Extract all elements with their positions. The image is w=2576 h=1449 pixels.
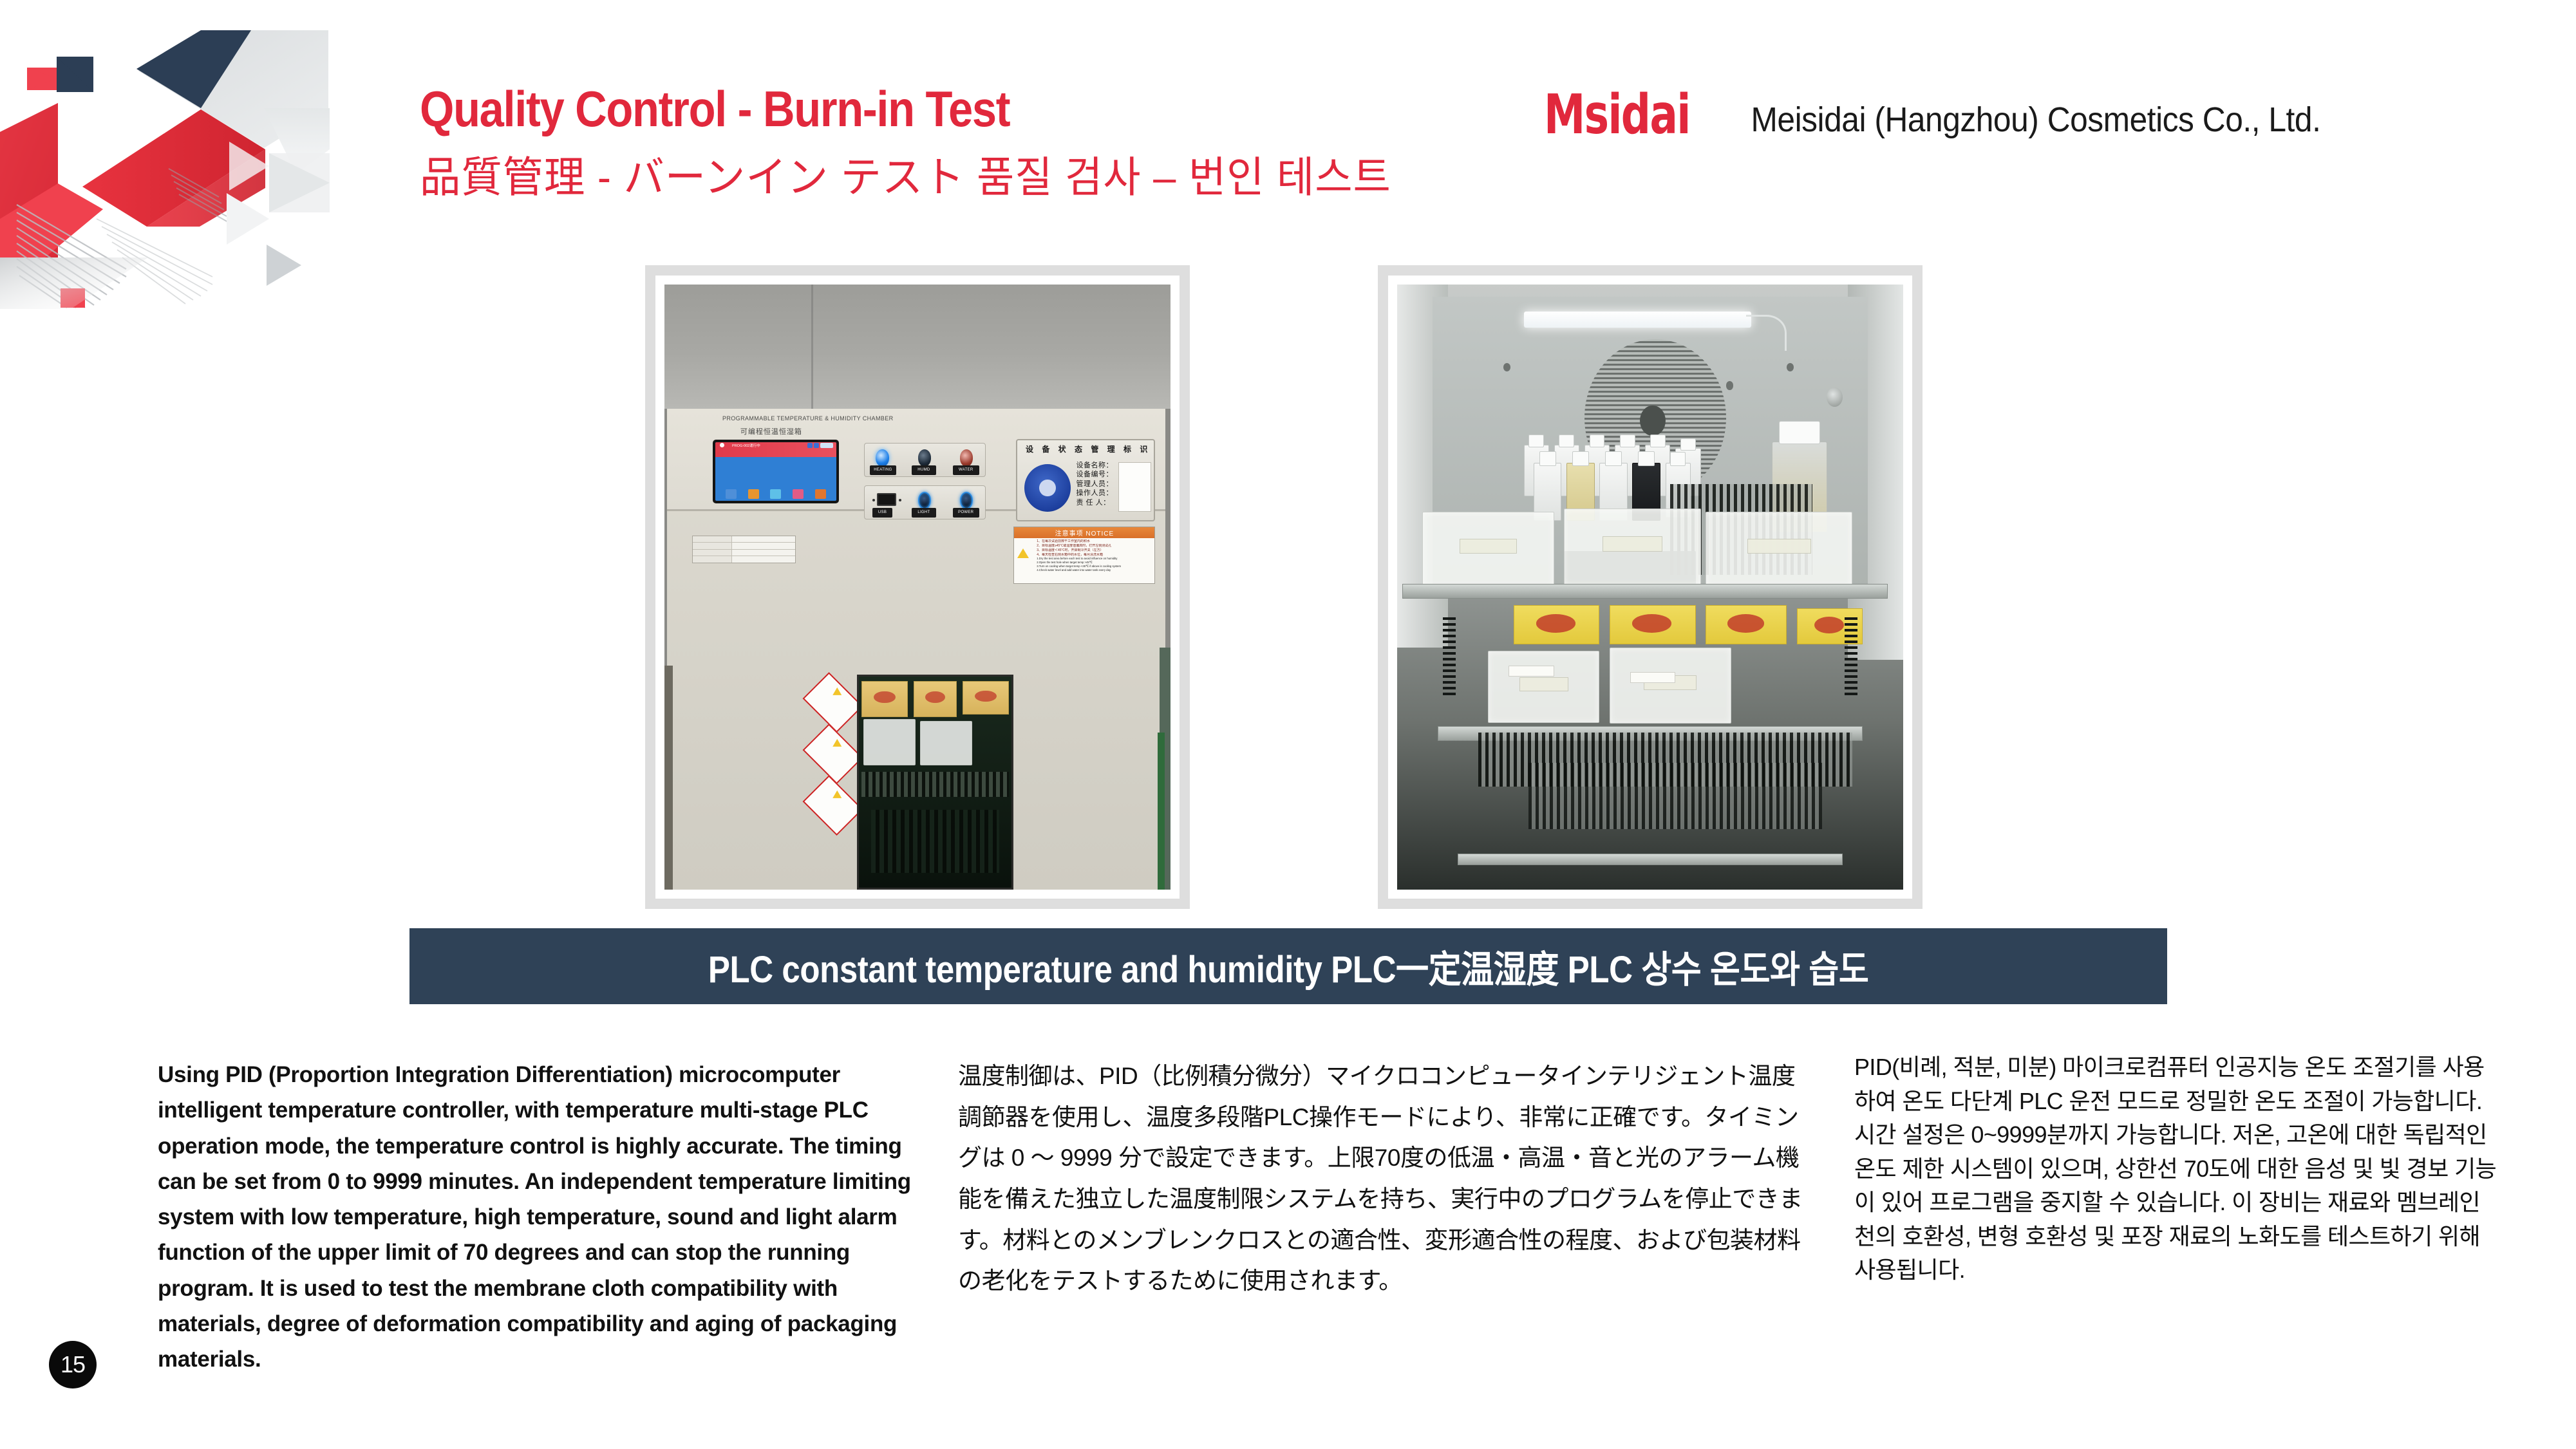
shelf-bracket-right [1845, 617, 1857, 696]
control-button-row[interactable]: USB LIGHT POWER [864, 485, 986, 519]
usb-screw-left [872, 499, 875, 501]
hmi-icon-row[interactable] [715, 489, 837, 499]
notice-body: 1、在每次试验前擦干工作室内的积水 2、目标温度≥45℃或湿度值偏高时，打开左侧… [1014, 538, 1154, 583]
description-korean: PID(비례, 적분, 미분) 마이크로컴퓨터 인공지능 온도 조절기를 사용하… [1854, 1051, 2505, 1287]
page-title: Quality Control - Burn-in Test [420, 84, 1383, 134]
clear-sample-bag-1 [863, 719, 916, 765]
description-english: Using PID (Proportion Integration Differ… [158, 1057, 937, 1378]
sample-pouch-top-1 [1422, 512, 1554, 588]
shelf-upper [1402, 584, 1888, 599]
power-button[interactable] [960, 492, 973, 509]
banner-title: PLC constant temperature and humidity PL… [708, 939, 1868, 993]
light-button[interactable] [918, 492, 932, 509]
blue-seal-sticker [1024, 464, 1071, 512]
chamber-viewing-window [857, 675, 1014, 890]
description-japanese: 温度制御は、PID（比例積分微分）マイクロコンピュータインテリジェント温度調節器… [958, 1056, 1808, 1302]
msidai-logo: Msidai [1544, 87, 1690, 142]
notice-cn-3: 3、目标温度＜45℃时，开启制冷开关（左方） [1037, 548, 1153, 553]
usb-port[interactable] [877, 493, 896, 506]
fan-hub [1640, 406, 1665, 436]
sample-pouch-mid-1 [1488, 651, 1599, 724]
hmi-status-text: PROG-002運行中 [732, 443, 760, 448]
yellow-package-3 [1706, 605, 1787, 644]
warning-triangle-icon [1017, 548, 1029, 558]
hmi-badges [807, 443, 833, 448]
window-interior [859, 677, 1012, 888]
wall-seam [811, 285, 813, 409]
sensor-port-knob [1827, 388, 1843, 407]
usb-screw-right [899, 499, 901, 501]
green-door-edge [1158, 733, 1165, 890]
settings-icon[interactable] [793, 489, 804, 499]
interior-light-tube [1524, 312, 1752, 327]
shelf-bracket-left [1443, 617, 1456, 696]
clear-sample-bag-2 [920, 721, 972, 765]
humidity-label: HUMD [912, 465, 935, 475]
shelf-vent-lower [1528, 763, 1822, 829]
photo-plc-chamber-exterior: PROGRAMMABLE TEMPERATURE & HUMIDITY CHAM… [645, 265, 1190, 909]
spec-plate [692, 536, 796, 563]
photo-mat: PROGRAMMABLE TEMPERATURE & HUMIDITY CHAM… [655, 276, 1180, 899]
shelf-lower [1458, 854, 1842, 866]
yellow-sample-pouch-2 [914, 681, 957, 717]
monitor-icon[interactable] [726, 489, 737, 499]
notice-label: 注意事项 NOTICE 1、在每次试验前擦干工作室内的积水 2、目标温度≥45℃… [1013, 527, 1155, 584]
sample-pouch-top-2 [1564, 509, 1700, 586]
shelf-grille-1 [861, 772, 1008, 797]
sample-pouch-top-3 [1706, 512, 1852, 588]
machine-label-cn: 可编程恒温恒湿箱 [740, 426, 802, 436]
hmi-screen: PROG-002運行中 [715, 442, 837, 501]
hmi-status-dot [720, 443, 724, 447]
company-name: Meisidai (Hangzhou) Cosmetics Co., Ltd. [1751, 100, 2320, 140]
indicator-lamp-row: HEATING HUMD WATER [864, 443, 986, 477]
sample-label-1 [1509, 666, 1554, 677]
equipment-status-plate: 设 备 状 态 管 理 标 识 设备名称： 设备编号： 管理人员： 操作人员： … [1016, 439, 1155, 521]
water-indicator-lamp [960, 449, 973, 466]
page-number-badge: 15 [49, 1341, 97, 1388]
page-title-cjk: 品質管理 - バーンイン テスト 품질 검사 – 번인 테스트 [420, 156, 1471, 198]
yellow-package-2 [1610, 605, 1696, 644]
tools-icon[interactable] [748, 489, 759, 499]
slide-root: Quality Control - Burn-in Test 品質管理 - バー… [0, 0, 2576, 1449]
notice-cn-4: 4、每天检查右侧水箱中的水位，每月清洗水箱 [1037, 553, 1153, 557]
floor-left [664, 666, 673, 890]
light-label: LIGHT [912, 508, 935, 518]
curve-chart-icon[interactable] [770, 489, 781, 499]
usb-label: USB [872, 508, 893, 518]
decorative-geometric-corner [0, 0, 361, 309]
room-wall [664, 285, 1170, 409]
screw-3 [1726, 381, 1733, 389]
shelf-grille-2 [871, 810, 1000, 873]
sample-pouch-mid-2 [1610, 648, 1731, 724]
sample-label-2 [1630, 672, 1676, 683]
status-plate-title: 设 备 状 态 管 理 标 识 [1026, 444, 1151, 454]
yellow-sample-pouch-1 [861, 681, 907, 717]
photo-image-left: PROGRAMMABLE TEMPERATURE & HUMIDITY CHAM… [664, 285, 1170, 890]
hmi-status-bar: PROG-002運行中 [715, 442, 837, 458]
page-title-block: Quality Control - Burn-in Test 品質管理 - バー… [420, 84, 1514, 198]
humidity-indicator-lamp [918, 449, 932, 466]
photo-mat [1388, 276, 1912, 899]
lamp-wire [1746, 315, 1787, 351]
yellow-package-1 [1514, 605, 1600, 644]
program-icon[interactable] [815, 489, 826, 499]
notice-en-4: 4.Check water level and add water into w… [1037, 568, 1153, 572]
notice-cn-1: 1、在每次试验前擦干工作室内的积水 [1037, 539, 1153, 544]
photo-chamber-interior [1378, 265, 1923, 909]
section-banner: PLC constant temperature and humidity PL… [409, 928, 2167, 1004]
power-label: POWER [953, 508, 979, 518]
notice-title: 注意事项 NOTICE [1014, 527, 1154, 538]
page-number: 15 [61, 1351, 85, 1378]
notice-cn-2: 2、目标温度≥45℃或湿度值偏高时，打开左侧测试孔 [1037, 544, 1153, 548]
yellow-sample-pouch-3 [963, 681, 1008, 715]
photo-image-right [1397, 285, 1903, 890]
machine-label-en: PROGRAMMABLE TEMPERATURE & HUMIDITY CHAM… [722, 415, 894, 422]
hmi-touchscreen[interactable]: PROG-002運行中 [713, 440, 840, 504]
status-plate-insert-card [1118, 462, 1151, 512]
heating-indicator-lamp [876, 449, 889, 466]
water-label: WATER [953, 465, 979, 475]
brand-block: Msidai Meisidai (Hangzhou) Cosmetics Co.… [1531, 90, 2346, 140]
heating-label: HEATING [870, 465, 896, 475]
